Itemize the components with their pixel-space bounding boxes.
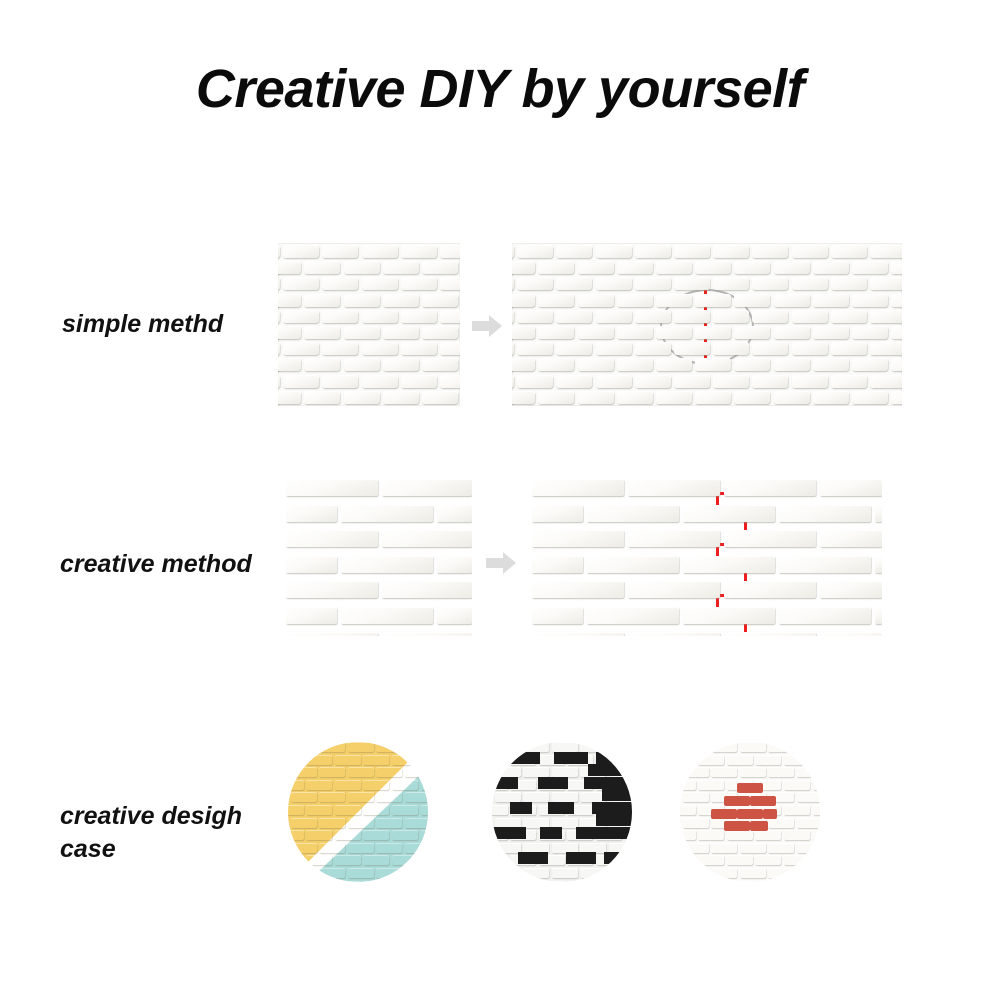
brick-tile: [422, 391, 458, 404]
brick-texture-tile: [348, 767, 374, 777]
brick-tile: [891, 391, 902, 404]
red-accent-brick: [711, 809, 737, 819]
brick-tile: [617, 358, 653, 371]
brick-tile: [304, 358, 340, 371]
brick-tile: [752, 375, 788, 388]
brick-texture-tile: [711, 843, 737, 853]
brick-tile: [831, 375, 867, 388]
brick-texture-tile: [698, 855, 724, 865]
brick-texture-tile: [376, 767, 402, 777]
brick-tile: [792, 245, 828, 258]
brick-texture-tile: [319, 843, 345, 853]
brick-texture-tile: [680, 830, 696, 840]
brick-texture-tile: [421, 805, 428, 815]
brick-tile: [779, 505, 871, 522]
brick-texture-tile: [523, 792, 549, 802]
brick-tile: [532, 556, 583, 573]
brick-tile: [283, 310, 319, 323]
brick-texture-tile: [288, 830, 304, 840]
brick-texture-tile: [784, 755, 810, 765]
arrow-right-icon-2: [486, 552, 516, 574]
brick-tile: [512, 375, 514, 388]
brick-texture-tile: [392, 855, 418, 865]
brick-tile: [286, 607, 337, 624]
brick-texture-tile: [683, 792, 709, 802]
brick-tile: [440, 342, 460, 355]
brick-tile: [278, 261, 301, 274]
brick-texture-tile: [711, 868, 737, 878]
brick-texture-tile: [768, 843, 794, 853]
brick-texture-tile: [740, 767, 766, 777]
pixel-block: [518, 852, 548, 864]
brick-tile: [278, 294, 301, 307]
brick-tile: [283, 375, 319, 388]
brick-texture-tile: [683, 818, 709, 828]
brick-tile: [695, 391, 731, 404]
red-accent-brick: [724, 821, 750, 831]
brick-tile: [875, 607, 882, 624]
brick-texture-tile: [698, 830, 724, 840]
design-case-1-yellow-mint: [288, 742, 428, 882]
brick-tile: [278, 277, 280, 290]
brick-texture-tile: [683, 742, 709, 752]
red-accent-brick: [763, 809, 777, 819]
brick-texture-tile: [405, 868, 428, 878]
brick-tile: [779, 607, 871, 624]
brick-texture-tile: [813, 830, 820, 840]
pixel-block: [576, 827, 632, 839]
brick-tile: [517, 277, 553, 290]
brick-tile: [512, 245, 514, 258]
brick-texture-tile: [348, 868, 374, 878]
brick-tile: [556, 342, 592, 355]
brick-tile: [674, 375, 710, 388]
brick-tile: [422, 261, 458, 274]
pixel-block: [566, 852, 596, 864]
brick-texture-tile: [363, 755, 389, 765]
row-label-creative-design-case: creative desigh case: [60, 800, 280, 865]
brick-tile: [628, 581, 720, 598]
brick-texture-tile: [727, 855, 753, 865]
brick-texture-tile: [288, 805, 304, 815]
brick-tile: [517, 375, 553, 388]
brick-texture-tile: [492, 881, 508, 882]
brick-tile: [713, 277, 749, 290]
brick-tile: [362, 277, 398, 290]
brick-tile: [278, 375, 280, 388]
brick-tile: [724, 479, 816, 496]
brick-texture-tile: [523, 767, 549, 777]
brick-tile: [774, 358, 810, 371]
brick-tile: [635, 375, 671, 388]
brick-tile: [401, 277, 437, 290]
brick-tile: [813, 358, 849, 371]
brick-tile: [713, 310, 749, 323]
brick-tile: [532, 632, 624, 636]
brick-tile: [792, 310, 828, 323]
brick-tile: [556, 245, 592, 258]
brick-tile: [512, 358, 535, 371]
brick-tile: [596, 277, 632, 290]
brick-texture-tile: [727, 881, 753, 882]
brick-tile: [596, 375, 632, 388]
brick-texture-tile: [405, 818, 428, 828]
brick-tile: [674, 342, 710, 355]
brick-tile: [401, 245, 437, 258]
brick-texture-tile: [784, 830, 810, 840]
brick-texture-tile: [288, 755, 304, 765]
brick-texture-tile: [698, 881, 724, 882]
brick-tile: [891, 326, 902, 339]
brick-texture-tile: [376, 868, 402, 878]
brick-texture-tile: [680, 805, 696, 815]
brick-texture-tile: [727, 755, 753, 765]
brick-tile: [831, 310, 867, 323]
brick-texture-tile: [376, 843, 402, 853]
brick-tile: [752, 245, 788, 258]
brick-texture-tile: [335, 755, 361, 765]
brick-tile: [870, 310, 902, 323]
brick-texture-tile: [698, 780, 724, 790]
brick-tile: [578, 326, 614, 339]
brick-tile: [695, 358, 731, 371]
brick-texture-tile: [680, 780, 696, 790]
brick-texture-tile: [495, 868, 521, 878]
brick-texture-tile: [421, 780, 428, 790]
brick-tile: [304, 391, 340, 404]
brick-texture-tile: [813, 881, 820, 882]
brick-tile: [283, 245, 319, 258]
brick-tile: [734, 294, 770, 307]
brick-texture-tile: [376, 792, 402, 802]
brick-tile: [512, 342, 514, 355]
brick-texture-tile: [784, 805, 810, 815]
brick-tile: [382, 479, 472, 496]
brick-texture-tile: [335, 780, 361, 790]
brick-tile: [278, 342, 280, 355]
brick-tile: [617, 391, 653, 404]
brick-tile: [322, 310, 358, 323]
pixel-block: [492, 777, 518, 789]
brick-tile: [820, 479, 882, 496]
brick-texture-tile: [609, 742, 632, 752]
pixel-block: [500, 752, 540, 764]
brick-tile: [870, 375, 902, 388]
brick-texture-tile: [363, 881, 389, 882]
brick-texture-tile: [363, 780, 389, 790]
brick-tile: [341, 607, 433, 624]
brick-tile: [852, 326, 888, 339]
brick-tile: [512, 261, 535, 274]
brick-tile: [304, 261, 340, 274]
brick-texture-tile: [421, 881, 428, 882]
red-accent-brick: [737, 783, 763, 793]
page-title: Creative DIY by yourself: [0, 58, 1000, 120]
brick-tile: [875, 556, 882, 573]
brick-texture-tile: [609, 868, 632, 878]
brick-texture-tile: [405, 742, 428, 752]
brick-tile: [774, 391, 810, 404]
brick-tile: [628, 530, 720, 547]
brick-tile: [774, 326, 810, 339]
brick-texture-tile: [813, 855, 820, 865]
brick-texture-tile: [768, 767, 794, 777]
brick-texture-tile: [580, 868, 606, 878]
pixel-block: [596, 814, 632, 826]
brick-tile: [304, 294, 340, 307]
brick-texture-tile: [740, 742, 766, 752]
brick-tile: [383, 326, 419, 339]
red-accent-brick: [750, 796, 776, 806]
brick-tile: [401, 375, 437, 388]
row-label-simple-method: simple methd: [62, 308, 223, 341]
brick-texture-tile: [495, 792, 521, 802]
brick-tile: [674, 245, 710, 258]
brick-texture-tile: [348, 792, 374, 802]
brick-tile: [322, 277, 358, 290]
brick-tile: [440, 310, 460, 323]
brick-tile: [635, 342, 671, 355]
brick-tile: [683, 607, 775, 624]
brick-tile: [852, 358, 888, 371]
brick-tile: [734, 391, 770, 404]
brick-tile: [813, 391, 849, 404]
brick-texture-tile: [348, 742, 374, 752]
brick-texture-tile: [755, 830, 781, 840]
brick-tile: [382, 632, 472, 636]
brick-texture-tile: [376, 742, 402, 752]
brick-tile: [587, 556, 679, 573]
brick-tile: [344, 294, 380, 307]
brick-tile: [813, 326, 849, 339]
brick-texture-tile: [797, 868, 820, 878]
brick-tile: [532, 581, 624, 598]
brick-tile: [383, 261, 419, 274]
brick-texture-tile: [567, 881, 593, 882]
brick-tile: [656, 326, 692, 339]
brick-texture-tile: [405, 843, 428, 853]
brick-texture-tile: [319, 818, 345, 828]
brick-texture-tile: [492, 855, 508, 865]
brick-tile: [713, 245, 749, 258]
brick-tile: [724, 530, 816, 547]
brick-tile: [362, 342, 398, 355]
brick-texture-tile: [306, 881, 332, 882]
brick-texture-tile: [363, 855, 389, 865]
brick-tile: [695, 261, 731, 274]
brick-texture-tile: [711, 742, 737, 752]
pixel-block: [538, 777, 568, 789]
brick-tile: [286, 632, 378, 636]
brick-tile: [891, 294, 902, 307]
brick-tile: [383, 358, 419, 371]
brick-texture-tile: [683, 843, 709, 853]
brick-tile: [517, 245, 553, 258]
brick-tile: [437, 607, 472, 624]
brick-tile: [401, 342, 437, 355]
brick-tile: [831, 342, 867, 355]
brick-texture-tile: [319, 742, 345, 752]
brick-tile: [813, 294, 849, 307]
brick-tile: [875, 505, 882, 522]
brick-tile: [283, 277, 319, 290]
brick-texture-tile: [784, 881, 810, 882]
brick-texture-tile: [740, 843, 766, 853]
brick-tile: [617, 261, 653, 274]
brick-tile: [596, 310, 632, 323]
brick-texture-tile: [291, 868, 317, 878]
brick-tile: [532, 530, 624, 547]
brick-texture-tile: [683, 868, 709, 878]
brick-texture-tile: [698, 755, 724, 765]
brick-texture-tile: [552, 767, 578, 777]
brick-tile: [852, 294, 888, 307]
brick-texture-tile: [291, 843, 317, 853]
brick-tile: [792, 342, 828, 355]
brick-tile: [891, 358, 902, 371]
brick-texture-tile: [319, 868, 345, 878]
red-accent-brick: [750, 821, 768, 831]
brick-tile: [674, 277, 710, 290]
brick-tile: [891, 261, 902, 274]
brick-texture-tile: [755, 881, 781, 882]
brick-tile: [635, 310, 671, 323]
brick-tile: [278, 245, 280, 258]
brick-tile: [437, 505, 472, 522]
brick-tile: [538, 294, 574, 307]
brick-texture-tile: [510, 881, 536, 882]
brick-tile: [422, 294, 458, 307]
brick-tile: [752, 310, 788, 323]
brick-tile: [512, 277, 514, 290]
pixel-block: [588, 764, 632, 776]
brick-tile: [683, 505, 775, 522]
brick-tile: [578, 358, 614, 371]
brick-tile: [656, 358, 692, 371]
brick-tile: [422, 358, 458, 371]
brick-tile: [713, 342, 749, 355]
design-case-2-black-white-pixel: [492, 742, 632, 882]
staggered-brick-panel-before: [286, 479, 472, 636]
brick-tile: [656, 261, 692, 274]
brick-tile: [538, 358, 574, 371]
brick-texture-tile: [755, 755, 781, 765]
brick-tile: [278, 358, 301, 371]
brick-tile: [628, 632, 720, 636]
brick-tile: [596, 245, 632, 258]
brick-tile: [362, 245, 398, 258]
brick-tile: [734, 261, 770, 274]
brick-tile: [278, 326, 301, 339]
brick-tile: [322, 342, 358, 355]
brick-tile: [512, 326, 535, 339]
brick-tile: [322, 375, 358, 388]
brick-tile: [734, 358, 770, 371]
pixel-block: [602, 789, 632, 801]
brick-texture-tile: [539, 881, 565, 882]
brick-tile: [820, 632, 882, 636]
brick-tile: [362, 310, 398, 323]
brick-tile: [512, 294, 535, 307]
brick-tile: [578, 294, 614, 307]
brick-texture-tile: [523, 868, 549, 878]
brick-texture-tile: [392, 755, 418, 765]
brick-texture-tile: [392, 805, 418, 815]
brick-tile: [512, 310, 514, 323]
pixel-block: [540, 827, 562, 839]
pixel-block: [592, 802, 632, 814]
brick-texture-tile: [348, 843, 374, 853]
brick-texture-tile: [291, 818, 317, 828]
brick-tile: [422, 326, 458, 339]
brick-tile: [382, 530, 472, 547]
brick-texture-tile: [797, 742, 820, 752]
brick-tile: [344, 261, 380, 274]
brick-tile: [278, 391, 301, 404]
brick-tile: [283, 342, 319, 355]
brick-texture-tile: [552, 792, 578, 802]
brick-tile: [724, 581, 816, 598]
brick-tile: [556, 310, 592, 323]
brick-tile: [734, 326, 770, 339]
brick-texture-tile: [291, 742, 317, 752]
brick-texture-tile: [319, 792, 345, 802]
brick-tile: [831, 277, 867, 290]
brick-tile: [683, 556, 775, 573]
pixel-block: [548, 802, 574, 814]
brick-texture-tile: [306, 780, 332, 790]
brick-texture-tile: [421, 855, 428, 865]
brick-texture-tile: [363, 805, 389, 815]
brick-texture-tile: [813, 805, 820, 815]
red-accent-brick: [737, 809, 763, 819]
brick-texture-tile: [495, 742, 521, 752]
brick-texture-tile: [768, 742, 794, 752]
brick-tile: [713, 375, 749, 388]
brick-tile: [440, 245, 460, 258]
brick-tile: [792, 277, 828, 290]
brick-tile: [512, 391, 535, 404]
brick-tile: [587, 607, 679, 624]
brick-texture-tile: [306, 855, 332, 865]
brick-texture-tile: [405, 767, 428, 777]
arrow-right-icon: [472, 315, 502, 337]
brick-tile: [870, 277, 902, 290]
brick-tile: [695, 294, 731, 307]
brick-texture-tile: [306, 805, 332, 815]
brick-texture-tile: [552, 742, 578, 752]
brick-texture-tile: [495, 843, 521, 853]
brick-tile: [656, 294, 692, 307]
brick-texture-tile: [680, 881, 696, 882]
brick-texture-tile: [421, 755, 428, 765]
brick-tile: [617, 326, 653, 339]
brick-texture-tile: [291, 767, 317, 777]
brick-texture-tile: [797, 792, 820, 802]
brick-texture-tile: [288, 855, 304, 865]
brick-texture-tile: [319, 767, 345, 777]
brick-tile: [578, 261, 614, 274]
brick-texture-tile: [306, 830, 332, 840]
pixel-block: [510, 802, 532, 814]
brick-tile: [556, 277, 592, 290]
brick-tile: [870, 245, 902, 258]
brick-tile: [752, 277, 788, 290]
plain-brick-panel-before: [278, 243, 460, 406]
brick-tile: [304, 326, 340, 339]
brick-tile: [617, 294, 653, 307]
brick-tile: [278, 310, 280, 323]
